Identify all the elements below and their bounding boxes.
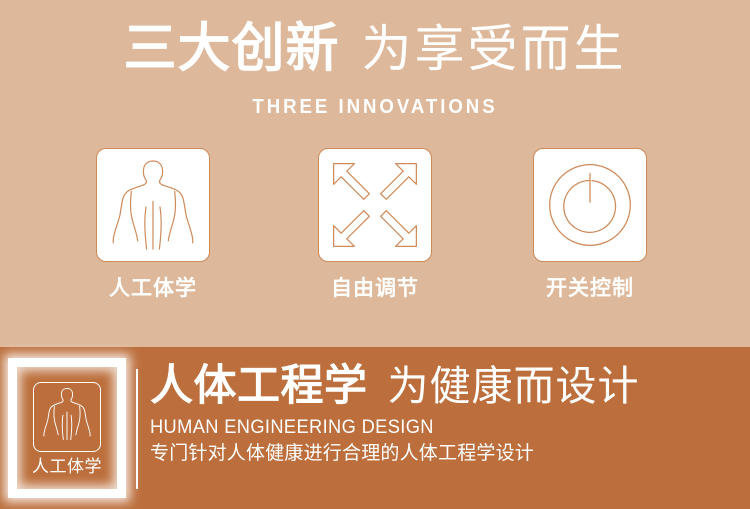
ergonomics-banner: 人工体学 人体工程学为健康而设计 HUMAN ENGINEERING DESIG…: [0, 347, 750, 509]
banner-title-strong: 人体工程学: [150, 362, 368, 410]
power-button-icon: [542, 157, 638, 253]
page-title-light: 为享受而生: [362, 21, 627, 77]
innovations-section: 三大创新为享受而生 THREE INNOVATIONS: [0, 0, 750, 347]
page-title-strong: 三大创新: [124, 19, 340, 78]
feature-list: 人工体学: [0, 148, 750, 318]
feature-label: 开关控制: [515, 278, 665, 299]
feature-item-adjustment[interactable]: 自由调节: [300, 148, 450, 299]
four-way-expand-arrows-icon: [328, 158, 422, 252]
badge-icon-box: [33, 382, 101, 452]
human-body-icon: [110, 157, 196, 253]
badge-content: 人工体学: [17, 367, 117, 489]
banner-subtitle-en: HUMAN ENGINEERING DESIGN: [150, 416, 716, 440]
feature-icon-box: [96, 148, 210, 262]
feature-icon-box: [533, 148, 647, 262]
badge-card[interactable]: 人工体学: [8, 358, 126, 498]
feature-item-ergonomics[interactable]: 人工体学: [78, 148, 228, 299]
banner-subtitle-cn: 专门针对人体健康进行合理的人体工程学设计: [150, 442, 740, 467]
badge-label: 人工体学: [32, 458, 102, 475]
banner-title-light: 为健康而设计: [388, 363, 640, 409]
feature-label: 自由调节: [300, 278, 450, 299]
promo-banner-page: 三大创新为享受而生 THREE INNOVATIONS: [0, 0, 750, 509]
human-body-icon: [42, 386, 92, 447]
feature-icon-box: [318, 148, 432, 262]
feature-item-switch[interactable]: 开关控制: [515, 148, 665, 299]
page-subtitle: THREE INNOVATIONS: [26, 96, 724, 119]
page-title: 三大创新为享受而生: [0, 22, 750, 75]
vertical-divider: [136, 369, 138, 489]
feature-label: 人工体学: [78, 278, 228, 299]
banner-title: 人体工程学为健康而设计: [150, 365, 740, 408]
banner-text-block: 人体工程学为健康而设计 HUMAN ENGINEERING DESIGN 专门针…: [150, 365, 740, 466]
